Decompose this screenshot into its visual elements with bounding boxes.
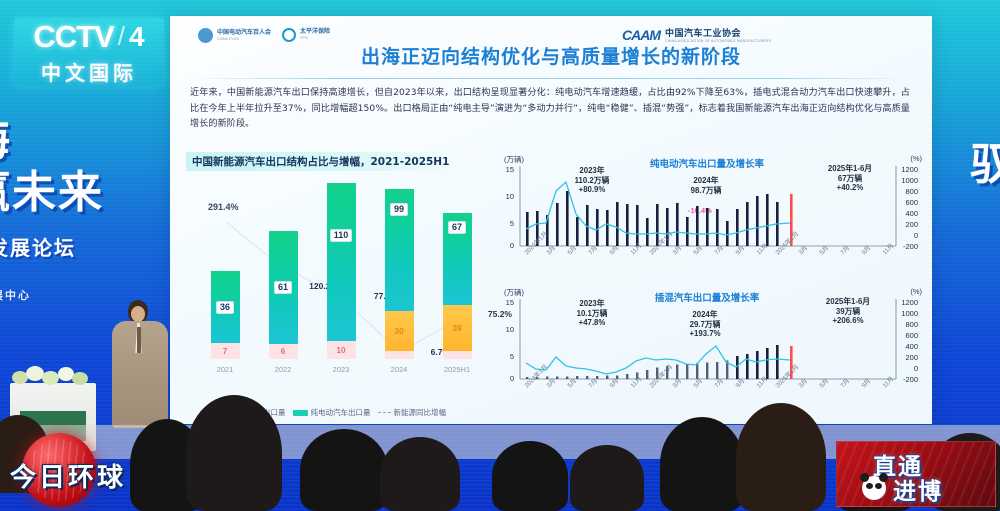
bar-segment-bev: 110: [327, 183, 356, 341]
chart-bev-svg: [490, 154, 924, 282]
bar-value-phev: 39: [452, 323, 461, 333]
bar-segment-phev: 6: [269, 344, 298, 359]
cctv-subtitle: 中文国际: [41, 57, 137, 86]
audience-head: [660, 417, 744, 511]
banner-left-line2: 赢未来: [0, 168, 156, 218]
caam-text: 中国汽车工业协会 CHINA ASSOCIATION OF AUTOMOBILE…: [665, 26, 771, 43]
audience-head: [186, 395, 282, 511]
bar-value-bev: 110: [330, 229, 353, 242]
title-divider: [188, 78, 914, 79]
logo-b-sub: CPIC: [300, 36, 330, 41]
logo-a-sub: CHINA EV100: [217, 37, 271, 42]
bar-segment-bev: 99: [385, 189, 414, 311]
cctv-slash-icon: /: [118, 21, 125, 52]
stage-banner-left: 海 赢未来 态发展论坛 京合展中心: [0, 118, 156, 303]
bar-value-phev: 10: [337, 346, 346, 355]
bar-segment-base: [443, 351, 472, 359]
banner-left-line3: 态发展论坛: [0, 232, 156, 261]
bar-stack: 67 39: [443, 213, 472, 359]
chart-left-title: 中国新能源汽车出口结构占比与增幅，2021-2025H1: [186, 152, 457, 171]
speaker-tie: [137, 327, 141, 353]
cctv-channel-logo: CCTV / 4 中文国际: [14, 18, 164, 86]
bar-2023: 110 10 77.6% 2023: [312, 183, 370, 359]
bar-xlabel: 2022: [275, 365, 292, 374]
logo-b-name: 太平洋保险: [300, 29, 330, 36]
logo-b-text: 太平洋保险 CPIC: [300, 29, 330, 41]
slide-title: 出海正迈向结构优化与高质量增长的新阶段: [170, 42, 932, 69]
bar-2022: 61 6 120.2% 2022: [254, 231, 312, 359]
bar-value-bev: 99: [390, 203, 408, 216]
caam-mark: CAAM: [622, 27, 660, 43]
chart-left-plot: 291.4% 36 7 2021: [186, 176, 486, 381]
bar-value-bev: 61: [274, 281, 292, 294]
bar-segment-phev: 7: [211, 343, 240, 359]
bar-segment-bev: 67: [443, 213, 472, 305]
bar-segment-bev: 61: [269, 231, 298, 344]
bar-stack: 36 7: [211, 271, 240, 359]
bar-xlabel: 2023: [333, 365, 350, 374]
cctv-letters: CCTV: [33, 19, 113, 55]
bar-segment-phev: 39: [443, 305, 472, 351]
audience-head: [570, 445, 644, 511]
audience-head: [300, 429, 388, 511]
banner-left-line1: 海: [0, 118, 156, 164]
bar-value-phev: 30: [394, 326, 403, 336]
bar-2025h1: 67 39 75.2% 2025H1: [428, 213, 486, 359]
audience-head: [736, 403, 826, 511]
bar-value-phev: 6: [281, 347, 285, 356]
bar-segment-phev: 30: [385, 311, 414, 351]
bar-value-bev: 36: [216, 301, 234, 314]
panda-icon: [857, 468, 891, 502]
logo-china-ev100: 中国电动汽车百人会 CHINA EV100: [198, 28, 271, 43]
bar-value-bev: 67: [448, 221, 466, 234]
audience-head: [380, 437, 460, 511]
cpic-emblem-icon: [282, 28, 296, 42]
bar-2021: 36 7 2021: [196, 271, 254, 359]
flower: [42, 371, 59, 385]
bar-stack: 99 30: [385, 189, 414, 359]
lower-third-right-line2: 进博: [893, 472, 943, 506]
lower-third-right: 直通 进博: [836, 441, 996, 507]
bar-2024: 99 30 6.7% 2024: [370, 189, 428, 359]
audience-head: [492, 441, 568, 511]
bar-segment-bev: 36: [211, 271, 240, 343]
stage-banner-right: 驭: [970, 128, 1000, 192]
logo-cpic: 太平洋保险 CPIC: [282, 28, 330, 42]
bar-value-phev: 7: [223, 347, 227, 356]
bar-stack: 110 10: [327, 183, 356, 359]
bar-xlabel: 2024: [391, 365, 408, 374]
presentation-slide: 中国电动汽车百人会 CHINA EV100 太平洋保险 CPIC CAAM 中国…: [170, 16, 932, 424]
speaker-face: [131, 306, 145, 322]
org-emblem-icon: [198, 28, 213, 43]
flower: [72, 372, 88, 385]
logo-a-name: 中国电动汽车百人会: [217, 30, 271, 37]
bar-xlabel: 2025H1: [444, 365, 470, 374]
logo-a-text: 中国电动汽车百人会 CHINA EV100: [217, 30, 271, 42]
panda-ear-right: [879, 473, 888, 482]
bar-xlabel: 2021: [217, 365, 234, 374]
logo-caam: CAAM 中国汽车工业协会 CHINA ASSOCIATION OF AUTOM…: [622, 26, 771, 43]
panda-eye-left: [866, 483, 873, 489]
slide-paragraph: 近年来，中国新能源汽车出口保持高速增长，但自2023年以来，出口结构呈现显著分化…: [190, 86, 910, 133]
lower-third-left: 今日环球: [4, 435, 174, 507]
chart-export-structure: 中国新能源汽车出口结构占比与增幅，2021-2025H1 291.4% 36 7: [186, 152, 486, 414]
caam-name: 中国汽车工业协会: [665, 26, 771, 39]
bar-group: 36 7 2021 61 6: [196, 177, 486, 359]
bar-stack: 61 6: [269, 231, 298, 359]
bar-segment-phev: 10: [327, 341, 356, 359]
lower-third-left-text: 今日环球: [10, 457, 126, 494]
bar-segment-base: [385, 351, 414, 359]
cctv-logo-row: CCTV / 4: [33, 19, 144, 55]
cctv-channel-number: 4: [129, 21, 145, 53]
flower-arrangement: [6, 363, 100, 393]
chart-bev-monthly: 纯电动汽车出口量及增长率 (万辆) (%) 15 10 5 0 1200 100…: [490, 154, 924, 282]
panda-eye-right: [875, 483, 882, 489]
panda-ear-left: [860, 473, 869, 482]
